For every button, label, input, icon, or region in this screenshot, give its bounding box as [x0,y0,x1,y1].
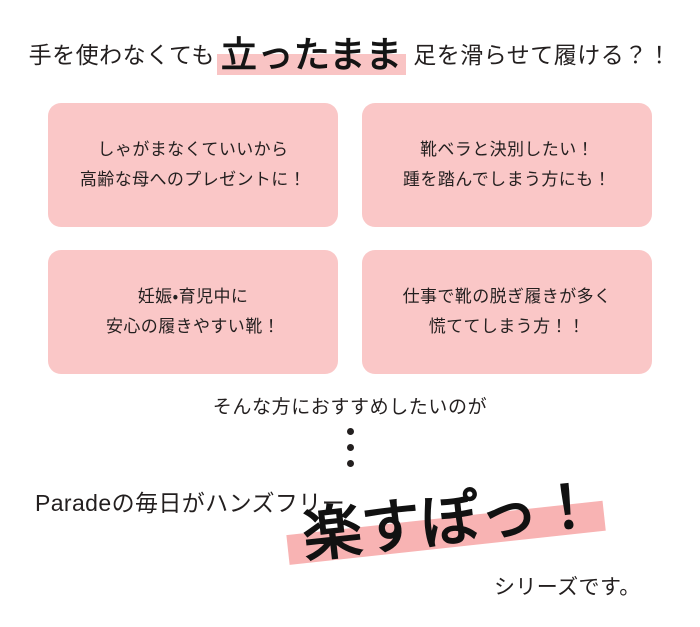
benefit-card-line-2: 慌ててしまう方！！ [429,317,586,337]
headline-highlight-band: 立ったまま [217,37,406,73]
benefit-card-line-1: 妊娠・育児中に [138,287,249,307]
headline: 手を使わなくても 立ったまま 足を滑らせて履ける？！ [0,30,700,80]
series-suffix-text: シリーズです。 [494,571,641,601]
benefit-card-line-2: 安心の履きやすい靴！ [106,317,280,337]
benefit-card-line-2: 踵を踏んでしまう方にも！ [403,170,611,190]
benefit-card-line-2: 高齢な母へのプレゼントに！ [80,170,306,190]
vertical-ellipsis [0,428,700,467]
brand-tagline: Paradeの毎日がハンズフリー [35,484,345,518]
leadin-text: そんな方におすすめしたいのが [0,392,700,419]
promo-canvas: 手を使わなくても 立ったまま 足を滑らせて履ける？！ しゃがまなくていいから 高… [0,0,700,627]
benefit-card: 妊娠・育児中に 安心の履きやすい靴！ [48,250,338,374]
benefit-card-grid: しゃがまなくていいから 高齢な母へのプレゼントに！ 靴ベラと決別したい！ 踵を踏… [48,103,652,373]
ellipsis-dot-icon [347,460,354,467]
benefit-card: 靴ベラと決別したい！ 踵を踏んでしまう方にも！ [362,103,652,227]
benefit-card-line-1: 仕事で靴の脱ぎ履きが多く [403,287,612,307]
headline-lead-text: 手を使わなくても [29,44,217,67]
benefit-card-line-1: 靴ベラと決別したい！ [420,140,594,160]
headline-highlight-text: 立ったまま [221,37,402,73]
benefit-card: しゃがまなくていいから 高齢な母へのプレゼントに！ [48,103,338,227]
ellipsis-dot-icon [347,444,354,451]
ellipsis-dot-icon [347,428,354,435]
benefit-card: 仕事で靴の脱ぎ履きが多く 慌ててしまう方！！ [362,250,652,374]
benefit-card-line-1: しゃがまなくていいから [98,140,289,160]
headline-tail-text: 足を滑らせて履ける？！ [406,44,671,67]
